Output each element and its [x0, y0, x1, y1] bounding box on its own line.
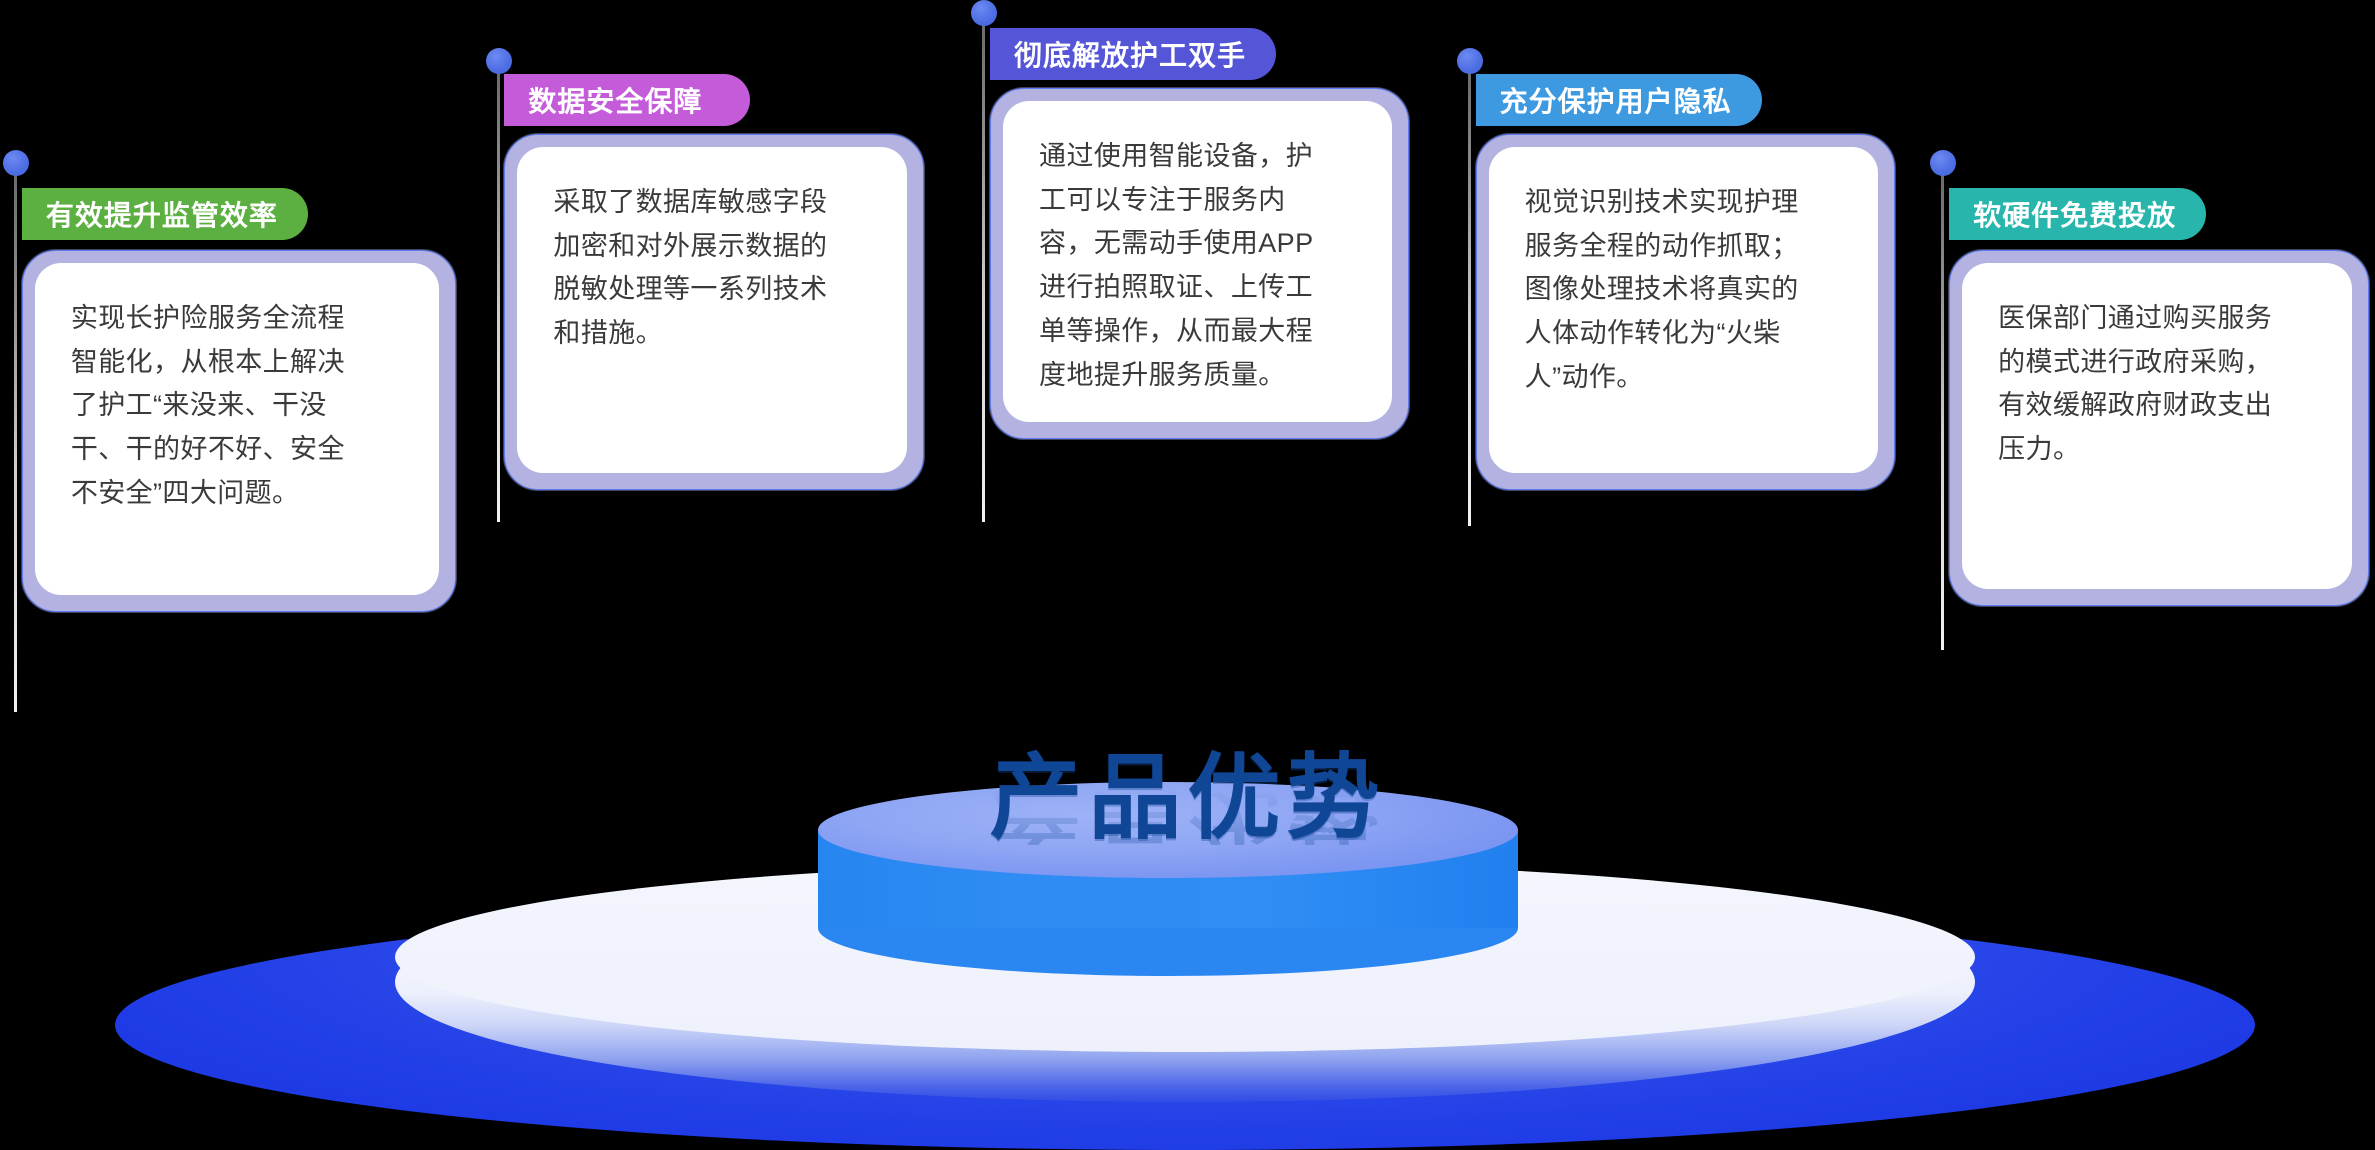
card-header-pill[interactable]: 有效提升监管效率	[22, 188, 308, 240]
card-body-text: 通过使用智能设备，护 工可以专注于服务内 容，无需动手使用APP 进行拍照取证、…	[1039, 135, 1366, 397]
connector-dot-icon	[1930, 150, 1956, 176]
card-body-text: 采取了数据库敏感字段 加密和对外展示数据的 脱敏处理等一系列技术 和措施。	[553, 181, 880, 356]
card-header-label: 充分保护用户隐私	[1500, 80, 1732, 120]
connector-dot-icon	[3, 150, 29, 176]
card-header-pill[interactable]: 彻底解放护工双手	[990, 28, 1276, 80]
podium-base-plate-top	[395, 862, 1975, 1052]
card-header-pill[interactable]: 数据安全保障	[504, 74, 750, 126]
connector-line	[14, 172, 17, 712]
podium-base-plate	[395, 862, 1975, 1102]
card-body-text: 医保部门通过购买服务 的模式进行政府采购， 有效缓解政府财政支出 压力。	[1998, 297, 2325, 472]
connector-line	[1468, 70, 1471, 526]
connector-dot-icon	[486, 48, 512, 74]
card-body: 采取了数据库敏感字段 加密和对外展示数据的 脱敏处理等一系列技术 和措施。	[517, 147, 906, 473]
card-body: 实现长护险服务全流程 智能化，从根本上解决 了护工“来没来、干没 干、干的好不好…	[35, 263, 439, 595]
card-frame: 实现长护险服务全流程 智能化，从根本上解决 了护工“来没来、干没 干、干的好不好…	[22, 250, 456, 612]
card-frame: 通过使用智能设备，护 工可以专注于服务内 容，无需动手使用APP 进行拍照取证、…	[990, 88, 1409, 439]
card-header-label: 彻底解放护工双手	[1014, 34, 1246, 74]
card-frame: 视觉识别技术实现护理 服务全程的动作抓取； 图像处理技术将真实的 人体动作转化为…	[1476, 134, 1895, 490]
podium-cylinder-bottom	[818, 880, 1518, 976]
card-header-label: 数据安全保障	[528, 80, 702, 120]
card-body-text: 实现长护险服务全流程 智能化，从根本上解决 了护工“来没来、干没 干、干的好不好…	[71, 297, 413, 516]
connector-line	[497, 70, 500, 522]
connector-dot-icon	[1457, 48, 1483, 74]
podium-title: 产品优势	[0, 752, 2375, 845]
card-body: 医保部门通过购买服务 的模式进行政府采购， 有效缓解政府财政支出 压力。	[1962, 263, 2351, 589]
card-frame: 采取了数据库敏感字段 加密和对外展示数据的 脱敏处理等一系列技术 和措施。	[504, 134, 923, 490]
podium-base-glow	[115, 900, 2255, 1150]
connector-line	[1941, 172, 1944, 650]
card-header-label: 软硬件免费投放	[1973, 194, 2176, 234]
connector-dot-icon	[971, 0, 997, 26]
card-frame: 医保部门通过购买服务 的模式进行政府采购， 有效缓解政府财政支出 压力。	[1949, 250, 2368, 606]
card-header-label: 有效提升监管效率	[46, 194, 278, 234]
card-body: 视觉识别技术实现护理 服务全程的动作抓取； 图像处理技术将真实的 人体动作转化为…	[1489, 147, 1878, 473]
connector-line	[982, 22, 985, 522]
card-header-pill[interactable]: 软硬件免费投放	[1949, 188, 2206, 240]
card-body: 通过使用智能设备，护 工可以专注于服务内 容，无需动手使用APP 进行拍照取证、…	[1003, 101, 1392, 422]
card-body-text: 视觉识别技术实现护理 服务全程的动作抓取； 图像处理技术将真实的 人体动作转化为…	[1525, 181, 1852, 400]
card-header-pill[interactable]: 充分保护用户隐私	[1476, 74, 1762, 126]
